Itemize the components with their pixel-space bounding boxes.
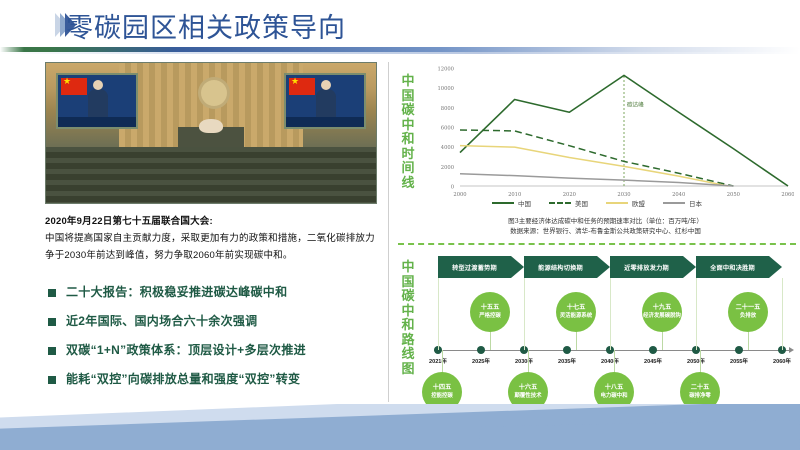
chart-caption: 图3主要经济体达成碳中和任务的预期速率对比（单位：百万吨/年） 数据来源：世界银… <box>418 216 793 236</box>
paragraph-line-3: 争于2030年前达到峰值，努力争取2060年前实现碳中和。 <box>45 247 380 264</box>
paragraph-line-1: 2020年9月22日第七十五届联合国大会: <box>45 214 380 230</box>
guide-line <box>438 278 439 350</box>
phase-arrow: 近零排放发力期 <box>610 256 696 278</box>
legend-label: 中国 <box>518 198 531 208</box>
timeline-tick <box>563 346 571 354</box>
caption-line-2: 数据来源：世界银行、清华-布鲁金斯公共政策研究中心、红杉中国 <box>418 226 793 236</box>
column-divider <box>388 62 389 402</box>
arrow-tip-icon <box>769 256 782 278</box>
phase-label: 全面中和决胜期 <box>710 263 755 272</box>
timeline-year-label: 2040年 <box>590 357 630 365</box>
legend-item: 日本 <box>663 198 702 208</box>
svg-text:12000: 12000 <box>437 67 454 73</box>
legend-label: 日本 <box>689 198 702 208</box>
arrow-tip-icon <box>597 256 610 278</box>
un-speech-paragraph: 2020年9月22日第七十五届联合国大会: 中国将提高国家自主贡献力度，采取更加… <box>45 214 380 264</box>
legend-item: 欧盟 <box>606 198 645 208</box>
square-bullet-icon <box>48 289 56 297</box>
list-item: 双碳“1+N”政策体系：顶层设计+多层次推进 <box>48 344 388 357</box>
svg-text:6000: 6000 <box>441 126 454 132</box>
roadmap-vertical-label: 中国碳中和路线图 <box>398 260 418 376</box>
bullet-text: 能耗“双控”向碳排放总量和强度“双控”转变 <box>66 373 300 386</box>
milestone-bubble: 十九五经济发展碳脱钩 <box>642 292 682 332</box>
milestone-plan: 十九五 <box>653 304 672 311</box>
milestone-theme: 负排放 <box>740 313 756 320</box>
chart-legend: 中国美国欧盟日本 <box>432 198 762 208</box>
bullet-text: 二十大报告：积极稳妥推进碳达峰碳中和 <box>66 286 287 299</box>
bullet-text: 双碳“1+N”政策体系：顶层设计+多层次推进 <box>66 344 306 357</box>
timeline-year-label: 2025年 <box>461 357 501 365</box>
caption-line-1: 图3主要经济体达成碳中和任务的预期速率对比（单位：百万吨/年） <box>418 216 793 226</box>
chart-vertical-label: 中国碳中和时间线 <box>398 74 418 190</box>
guide-line <box>782 278 783 350</box>
bullet-text: 近2年国际、国内场合六十余次强调 <box>66 315 257 328</box>
chart-svg: 0200040006000800010000120002000201020202… <box>426 60 794 218</box>
legend-swatch <box>549 202 571 204</box>
svg-text:0: 0 <box>451 185 454 191</box>
timeline-tick <box>477 346 485 354</box>
china-flag-icon <box>61 78 87 95</box>
header-rule-secondary <box>0 52 800 54</box>
timeline-year-label: 2060年 <box>762 357 800 365</box>
slide-header: 零碳园区相关政策导向 <box>0 0 800 56</box>
paragraph-line-2: 中国将提高国家自主贡献力度，采取更加有力的政策和措施，二氧化碳排放力 <box>45 230 380 247</box>
milestone-theme: 灵活能源系统 <box>560 313 592 320</box>
svg-text:10000: 10000 <box>437 86 454 92</box>
emissions-line-chart: 0200040006000800010000120002000201020202… <box>426 60 794 218</box>
milestone-plan: 十五五 <box>481 304 500 311</box>
screen-right <box>284 73 366 129</box>
timeline-year-label: 2045年 <box>633 357 673 365</box>
svg-text:2060: 2060 <box>781 192 794 198</box>
milestone-bubble: 二十一五负排放 <box>728 292 768 332</box>
list-item: 能耗“双控”向碳排放总量和强度“双控”转变 <box>48 373 388 386</box>
phase-arrow: 转型过渡蓄势期 <box>438 256 524 278</box>
un-assembly-photo <box>45 62 377 204</box>
guide-line <box>696 278 697 350</box>
list-item: 二十大报告：积极稳妥推进碳达峰碳中和 <box>48 286 388 299</box>
milestone-theme: 电力碳中和 <box>601 393 628 400</box>
milestone-plan: 二十五 <box>691 384 710 391</box>
timeline-year-label: 2030年 <box>504 357 544 365</box>
legend-swatch <box>663 202 685 204</box>
legend-item: 中国 <box>492 198 531 208</box>
arrow-tip-icon <box>511 256 524 278</box>
screen-left <box>56 73 138 129</box>
milestone-bubble: 十七五灵活能源系统 <box>556 292 596 332</box>
timeline-tick <box>649 346 657 354</box>
milestone-plan: 十四五 <box>433 384 452 391</box>
milestone-plan: 十六五 <box>519 384 538 391</box>
timeline-year-label: 2021年 <box>418 357 458 365</box>
milestone-theme: 严格控碳 <box>479 313 501 320</box>
legend-swatch <box>606 202 628 204</box>
footer-decoration <box>0 404 800 450</box>
phase-label: 能源结构切换期 <box>538 263 583 272</box>
timeline-year-label: 2035年 <box>547 357 587 365</box>
phase-label: 转型过渡蓄势期 <box>452 263 497 272</box>
svg-text:8000: 8000 <box>441 106 454 112</box>
svg-text:2000: 2000 <box>441 165 454 171</box>
page-title: 零碳园区相关政策导向 <box>66 6 346 45</box>
milestone-theme: 碳排净零 <box>689 393 711 400</box>
milestone-plan: 十八五 <box>605 384 624 391</box>
timeline-year-label: 2050年 <box>676 357 716 365</box>
arrow-tip-icon <box>683 256 696 278</box>
timeline-year-label: 2055年 <box>719 357 759 365</box>
policy-bullet-list: 二十大报告：积极稳妥推进碳达峰碳中和 近2年国际、国内场合六十余次强调 双碳“1… <box>48 286 388 402</box>
square-bullet-icon <box>48 376 56 384</box>
roadmap-diagram: 2021年2025年2030年2035年2040年2045年2050年2055年… <box>424 252 798 410</box>
square-bullet-icon <box>48 318 56 326</box>
phase-arrow: 能源结构切换期 <box>524 256 610 278</box>
china-flag-icon <box>289 78 315 95</box>
phase-arrow: 全面中和决胜期 <box>696 256 782 278</box>
list-item: 近2年国际、国内场合六十余次强调 <box>48 315 388 328</box>
milestone-bubble: 十五五严格控碳 <box>470 292 510 332</box>
milestone-plan: 二十一五 <box>736 304 761 311</box>
legend-swatch <box>492 202 514 204</box>
milestone-plan: 十七五 <box>567 304 586 311</box>
milestone-theme: 控能控碳 <box>431 393 453 400</box>
guide-line <box>610 278 611 350</box>
square-bullet-icon <box>48 347 56 355</box>
milestone-theme: 经济发展碳脱钩 <box>643 313 681 320</box>
svg-text:4000: 4000 <box>441 145 454 151</box>
guide-line <box>524 278 525 350</box>
timeline-tick <box>735 346 743 354</box>
legend-label: 美国 <box>575 198 588 208</box>
legend-label: 欧盟 <box>632 198 645 208</box>
section-dashed-separator <box>398 243 796 245</box>
un-emblem-icon <box>201 80 227 106</box>
legend-item: 美国 <box>549 198 588 208</box>
milestone-theme: 颠覆性技术 <box>515 393 542 400</box>
carbon-neutral-timeline-panel: 中国碳中和时间线 0200040006000800010000120002000… <box>392 56 800 246</box>
carbon-neutral-roadmap-panel: 中国碳中和路线图 2021年2025年2030年2035年2040年2045年2… <box>392 252 800 412</box>
svg-text:碳达峰: 碳达峰 <box>627 100 644 108</box>
phase-label: 近零排放发力期 <box>624 263 669 272</box>
